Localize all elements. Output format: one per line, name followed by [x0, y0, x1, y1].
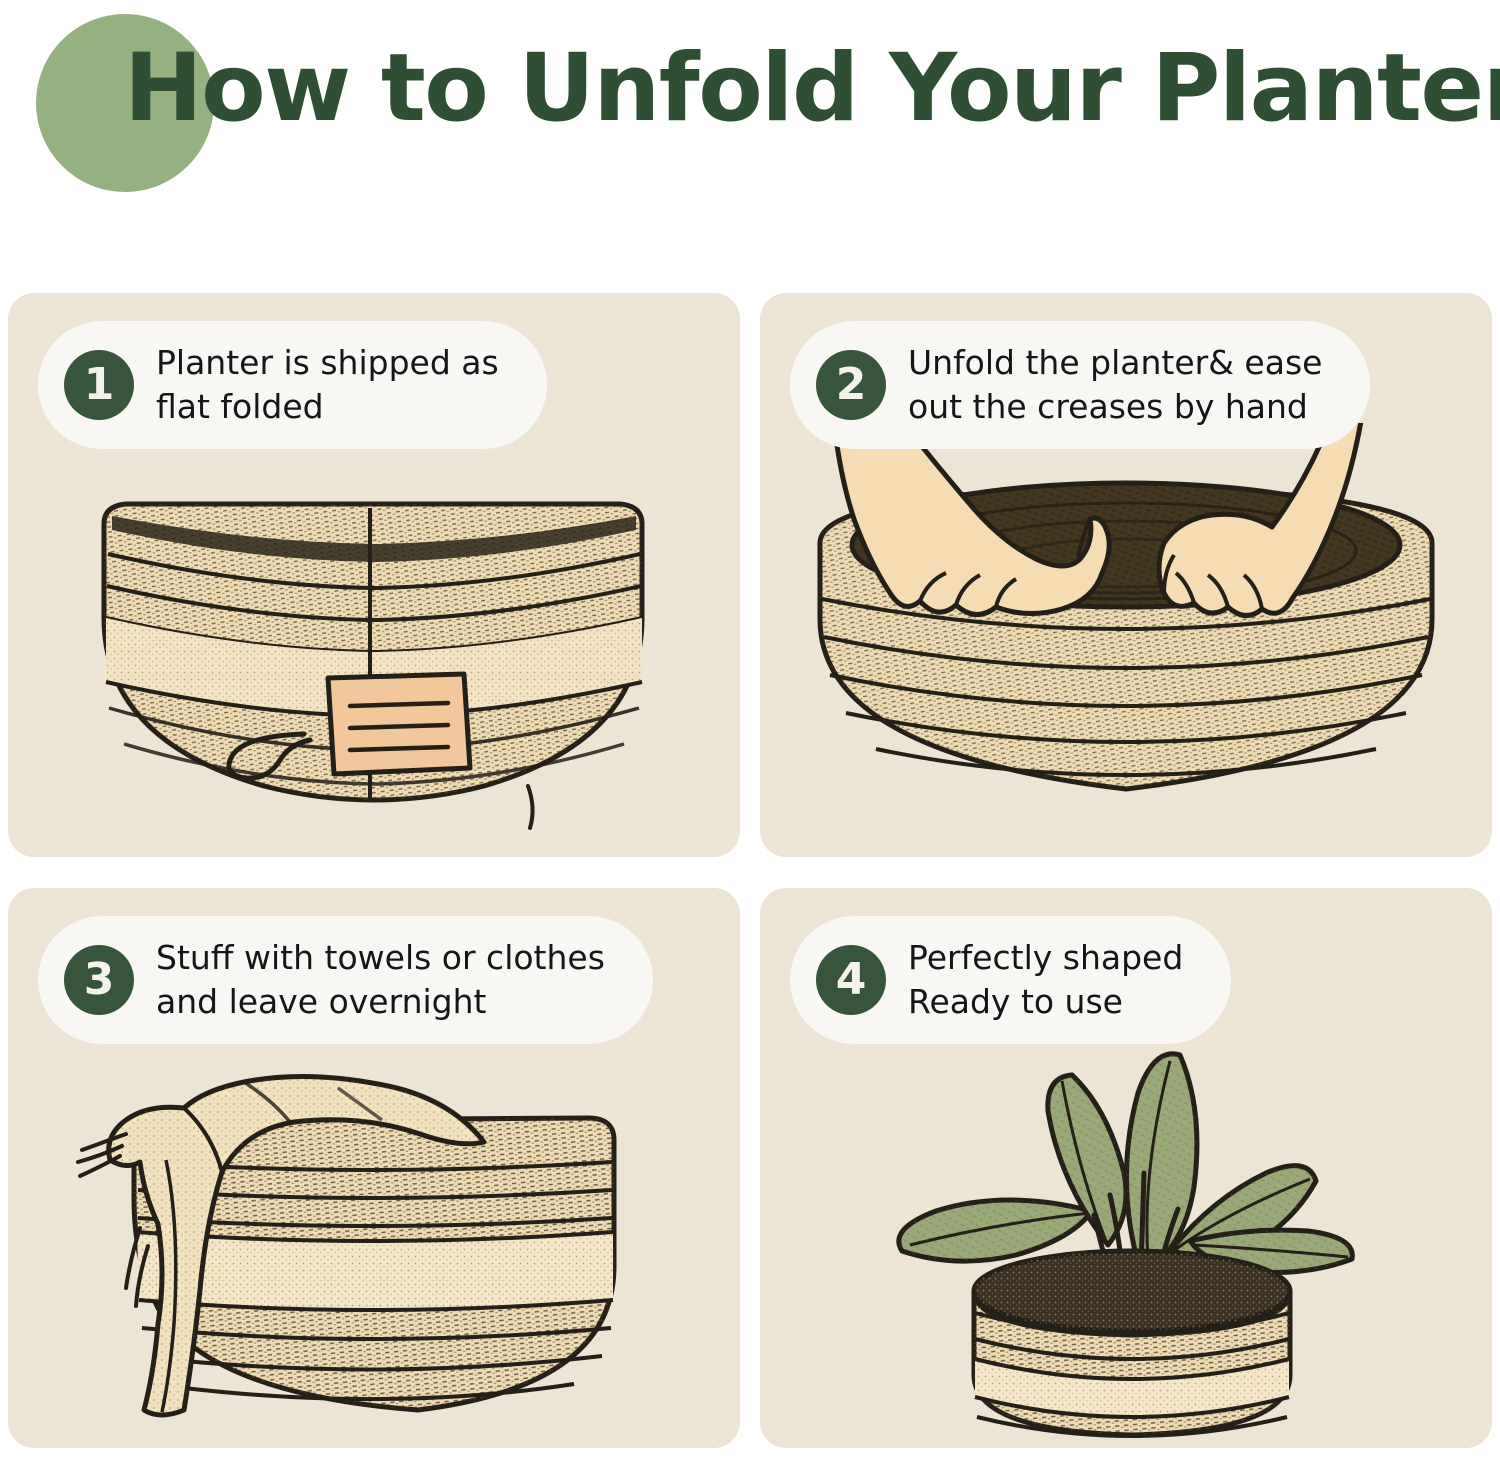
steps-grid: 1 Planter is shipped as flat folded: [8, 293, 1492, 1448]
step-caption-text-3: Stuff with towels or clothes and leave o…: [156, 936, 605, 1024]
step-caption-pill-4: 4 Perfectly shaped Ready to use: [790, 916, 1231, 1044]
infographic-page: How to Unfold Your Planter 1 Planter is …: [0, 0, 1500, 1458]
page-header: How to Unfold Your Planter: [0, 0, 1500, 285]
illustration-basket-with-towel: [8, 1038, 740, 1448]
step-card-3: 3 Stuff with towels or clothes and leave…: [8, 888, 740, 1448]
illustration-planter-with-plant: [760, 983, 1492, 1448]
step-caption-pill-1: 1 Planter is shipped as flat folded: [38, 321, 547, 449]
step-number-badge-1: 1: [64, 350, 134, 420]
step-number-badge-4: 4: [816, 945, 886, 1015]
step-caption-text-2: Unfold the planter& ease out the creases…: [908, 341, 1322, 429]
illustration-flat-folded-planter: [8, 468, 740, 848]
illustration-hands-unfolding-basket: [760, 423, 1492, 853]
step-card-4: 4 Perfectly shaped Ready to use: [760, 888, 1492, 1448]
step-caption-pill-2: 2 Unfold the planter& ease out the creas…: [790, 321, 1370, 449]
step-card-1: 1 Planter is shipped as flat folded: [8, 293, 740, 857]
step-caption-text-1: Planter is shipped as flat folded: [156, 341, 499, 429]
step-number-badge-3: 3: [64, 945, 134, 1015]
page-title: How to Unfold Your Planter: [124, 30, 1500, 148]
step-caption-pill-3: 3 Stuff with towels or clothes and leave…: [38, 916, 653, 1044]
step-card-2: 2 Unfold the planter& ease out the creas…: [760, 293, 1492, 857]
step-caption-text-4: Perfectly shaped Ready to use: [908, 936, 1183, 1024]
step-number-badge-2: 2: [816, 350, 886, 420]
